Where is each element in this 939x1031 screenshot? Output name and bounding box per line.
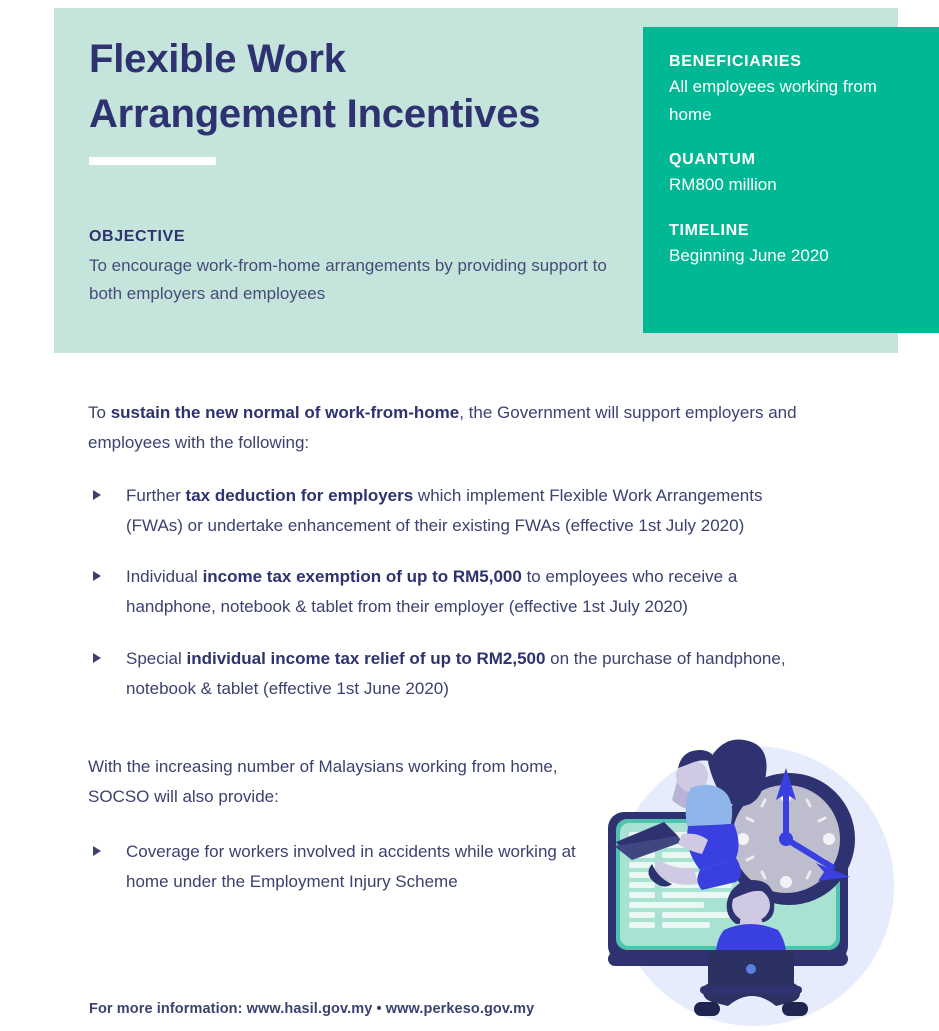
list-item: Further tax deduction for employers whic… (88, 481, 808, 542)
quantum-label: QUANTUM (669, 151, 915, 169)
list-item: Coverage for workers involved in acciden… (88, 837, 608, 898)
timeline-value: Beginning June 2020 (669, 242, 915, 270)
list-item: Individual income tax exemption of up to… (88, 562, 808, 623)
triangle-bullet-icon (93, 653, 101, 663)
intro-paragraph: To sustain the new normal of work-from-h… (88, 398, 808, 459)
triangle-bullet-icon (93, 571, 101, 581)
quantum-group: QUANTUM RM800 million (669, 151, 915, 199)
objective-text: To encourage work-from-home arrangements… (89, 252, 619, 308)
socso-bullet-text: Coverage for workers involved in acciden… (126, 842, 576, 891)
beneficiaries-group: BENEFICIARIES All employees working from… (669, 53, 915, 128)
page-title: Flexible Work Arrangement Incentives (89, 32, 629, 142)
beneficiaries-value: All employees working from home (669, 73, 915, 128)
summary-panel: BENEFICIARIES All employees working from… (643, 27, 939, 333)
objective-label: OBJECTIVE (89, 228, 619, 246)
body-content: To sustain the new normal of work-from-h… (88, 398, 808, 704)
socso-section: With the increasing number of Malaysians… (88, 752, 608, 897)
bullet-pre: Special (126, 649, 186, 668)
page-title-line-1: Flexible Work (89, 32, 629, 87)
work-from-home-illustration (596, 724, 908, 1026)
bullet-pre: Further (126, 486, 186, 505)
title-divider (89, 157, 216, 165)
socso-intro-paragraph: With the increasing number of Malaysians… (88, 752, 608, 813)
bullet-bold: income tax exemption of up to RM5,000 (203, 567, 522, 586)
intro-bold: sustain the new normal of work-from-home (111, 403, 460, 422)
socso-bullet-list: Coverage for workers involved in acciden… (88, 837, 608, 898)
page-title-line-2: Arrangement Incentives (89, 87, 629, 142)
beneficiaries-label: BENEFICIARIES (669, 53, 915, 71)
bullet-pre: Individual (126, 567, 203, 586)
footer-info: For more information: www.hasil.gov.my •… (89, 1001, 534, 1017)
quantum-value: RM800 million (669, 171, 915, 199)
bullet-bold: tax deduction for employers (186, 486, 414, 505)
triangle-bullet-icon (93, 846, 101, 856)
bullet-bold: individual income tax relief of up to RM… (186, 649, 545, 668)
timeline-label: TIMELINE (669, 222, 915, 240)
triangle-bullet-icon (93, 490, 101, 500)
objective-section: OBJECTIVE To encourage work-from-home ar… (89, 228, 619, 308)
incentive-bullet-list: Further tax deduction for employers whic… (88, 481, 808, 705)
timeline-group: TIMELINE Beginning June 2020 (669, 222, 915, 270)
list-item: Special individual income tax relief of … (88, 644, 808, 705)
intro-pre: To (88, 403, 111, 422)
